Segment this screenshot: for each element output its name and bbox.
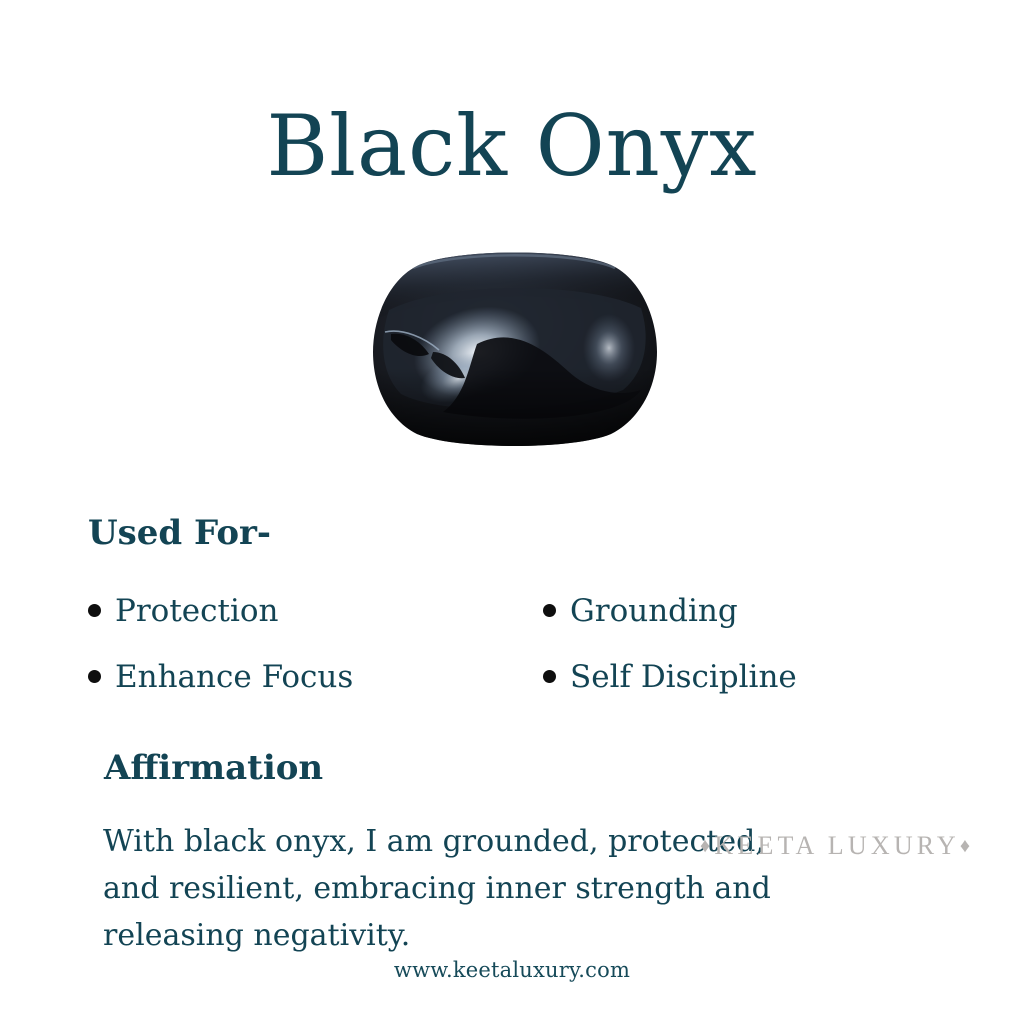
stone-illustration: [373, 248, 657, 448]
list-item-label: Self Discipline: [570, 662, 797, 693]
bullet-icon: [543, 670, 556, 683]
list-item: Self Discipline: [543, 662, 948, 693]
page-title: Black Onyx: [0, 102, 1024, 190]
diamond-icon: ♦: [960, 835, 974, 857]
affirmation-text: With black onyx, I am grounded, protecte…: [103, 818, 783, 959]
black-onyx-stone-image: [373, 248, 657, 448]
list-item-label: Protection: [115, 596, 279, 627]
list-item: Grounding: [543, 596, 948, 627]
list-item: Protection: [88, 596, 543, 627]
affirmation-heading: Affirmation: [104, 748, 323, 788]
list-item-label: Enhance Focus: [115, 662, 353, 693]
used-for-heading: Used For-: [88, 513, 271, 553]
website-url[interactable]: www.keetaluxury.com: [0, 958, 1024, 982]
bullet-icon: [543, 604, 556, 617]
used-for-list: Protection Grounding Enhance Focus Self …: [88, 596, 948, 728]
bullet-icon: [88, 604, 101, 617]
diamond-icon: ♦: [700, 835, 714, 857]
product-info-card: Black Onyx: [0, 0, 1024, 1024]
bullet-icon: [88, 670, 101, 683]
watermark-brand-label: KEETA LUXURY: [714, 831, 959, 860]
brand-watermark: ♦KEETA LUXURY♦: [700, 831, 974, 861]
list-item-label: Grounding: [570, 596, 738, 627]
list-item: Enhance Focus: [88, 662, 543, 693]
